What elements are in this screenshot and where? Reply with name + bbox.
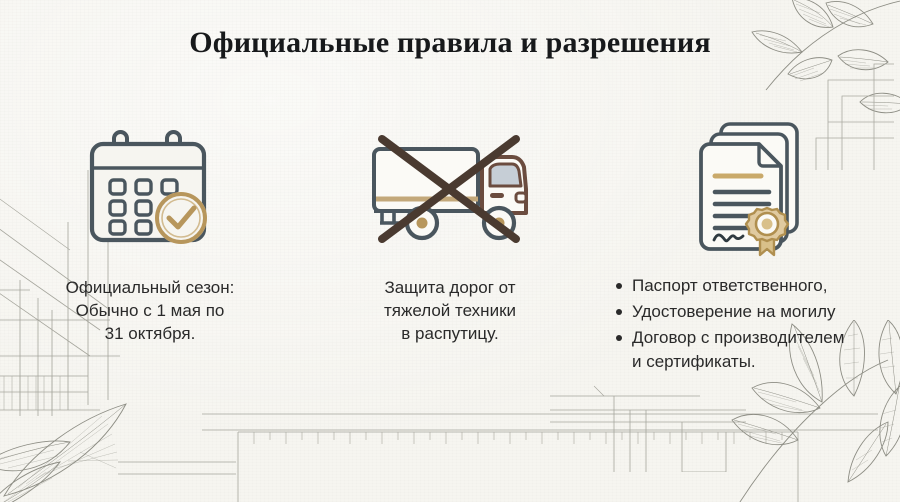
slide-title: Официальные правила и разрешения bbox=[0, 26, 900, 60]
caption-season-line-3: 31 октября. bbox=[66, 322, 235, 345]
list-item: Договор с производителем и сертификаты. bbox=[616, 326, 900, 374]
certificate-documents-icon bbox=[691, 118, 809, 258]
bullet-dot-icon bbox=[616, 283, 622, 289]
list-item-text-continued: и сертификаты. bbox=[632, 350, 900, 374]
list-item: Паспорт ответственного, bbox=[616, 274, 900, 298]
bullet-dot-icon bbox=[616, 335, 622, 341]
no-heavy-truck-icon bbox=[366, 131, 534, 246]
certificate-documents-icon-wrap bbox=[691, 118, 809, 258]
column-road-protection: Защита дорог от тяжелой техники в распут… bbox=[300, 118, 600, 345]
list-item: Удостоверение на могилу bbox=[616, 300, 900, 324]
slide-root: Официальные правила и разрешения bbox=[0, 0, 900, 502]
caption-road-line-1: Защита дорог от bbox=[384, 276, 516, 299]
calendar-check-icon bbox=[84, 128, 216, 248]
caption-road-line-2: тяжелой техники bbox=[384, 299, 516, 322]
list-item-text: Паспорт ответственного, bbox=[632, 276, 827, 295]
caption-road-line-3: в распутицу. bbox=[384, 322, 516, 345]
list-item-text: Удостоверение на могилу bbox=[632, 302, 836, 321]
documents-bullet-list: Паспорт ответственного, Удостоверение на… bbox=[608, 274, 900, 376]
bullet-dot-icon bbox=[616, 309, 622, 315]
caption-season-line-1: Официальный сезон: bbox=[66, 276, 235, 299]
calendar-check-icon-wrap bbox=[84, 118, 216, 258]
caption-season: Официальный сезон: Обычно с 1 мая по 31 … bbox=[66, 276, 235, 345]
caption-season-line-2: Обычно с 1 мая по bbox=[66, 299, 235, 322]
no-heavy-truck-icon-wrap bbox=[366, 118, 534, 258]
list-item-text: Договор с производителем bbox=[632, 328, 844, 347]
caption-road-protection: Защита дорог от тяжелой техники в распут… bbox=[384, 276, 516, 345]
column-season: Официальный сезон: Обычно с 1 мая по 31 … bbox=[0, 118, 300, 345]
column-documents: Паспорт ответственного, Удостоверение на… bbox=[600, 118, 900, 392]
columns-container: Официальный сезон: Обычно с 1 мая по 31 … bbox=[0, 118, 900, 418]
